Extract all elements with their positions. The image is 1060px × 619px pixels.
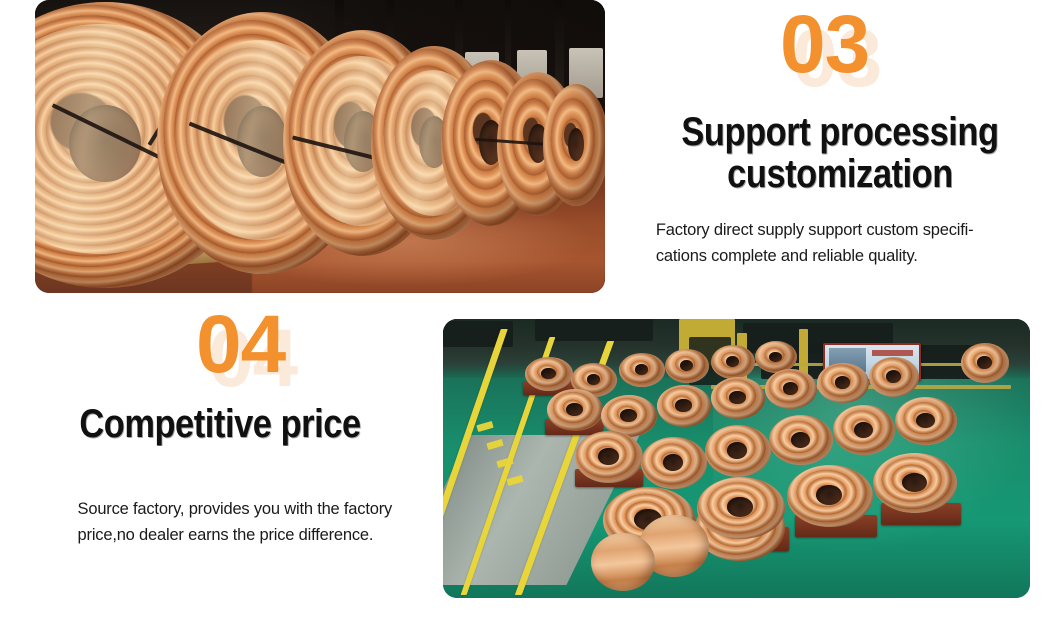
- section-number-04: 04 04: [196, 304, 285, 386]
- copper-coil: [711, 345, 755, 379]
- copper-coil: [525, 357, 573, 391]
- copper-coil: [705, 425, 771, 477]
- copper-coil: [833, 405, 895, 455]
- warehouse-copper-coils-photo: [443, 319, 1030, 598]
- copper-coil: [769, 415, 833, 465]
- copper-coil: [873, 453, 957, 513]
- section-heading-03: Support processing customization: [651, 112, 1029, 195]
- copper-coil: [869, 357, 919, 397]
- copper-coil: [711, 377, 765, 419]
- copper-coil: [665, 349, 709, 383]
- background-copper-coil: [961, 343, 1009, 383]
- section-body-04-line-1: Source factory, provides you with the fa…: [78, 496, 437, 522]
- section-body-03-line-2: cations complete and reliable quality.: [656, 243, 1034, 269]
- copper-coil: [547, 389, 603, 431]
- section-number-04-text: 04: [196, 299, 285, 390]
- section-body-04: Source factory, provides you with the fa…: [78, 496, 437, 547]
- copper-coil: [657, 385, 711, 427]
- section-body-04-line-2: price,no dealer earns the price differen…: [78, 522, 437, 548]
- copper-coil: [787, 465, 873, 527]
- section-body-03: Factory direct supply support custom spe…: [656, 217, 1034, 268]
- copper-coil: [543, 84, 605, 206]
- section-heading-04: Competitive price: [31, 404, 409, 446]
- copper-coil: [641, 437, 707, 489]
- feature-block-04: 04 04 Competitive price Source factory, …: [0, 300, 440, 619]
- copper-coil: [619, 353, 665, 387]
- copper-coil: [697, 477, 785, 539]
- section-body-03-line-1: Factory direct supply support custom spe…: [656, 217, 1034, 243]
- copper-coil: [895, 397, 957, 445]
- section-number-03-text: 03: [780, 0, 869, 90]
- section-number-03: 03 03: [780, 4, 869, 86]
- copper-coil: [817, 363, 869, 403]
- copper-coil-face: [591, 533, 655, 591]
- feature-block-03: 03 03 Support processing customization F…: [620, 0, 1060, 293]
- copper-coil: [765, 369, 817, 409]
- copper-strip-coil-row-photo: [35, 0, 605, 293]
- copper-coil: [575, 431, 643, 483]
